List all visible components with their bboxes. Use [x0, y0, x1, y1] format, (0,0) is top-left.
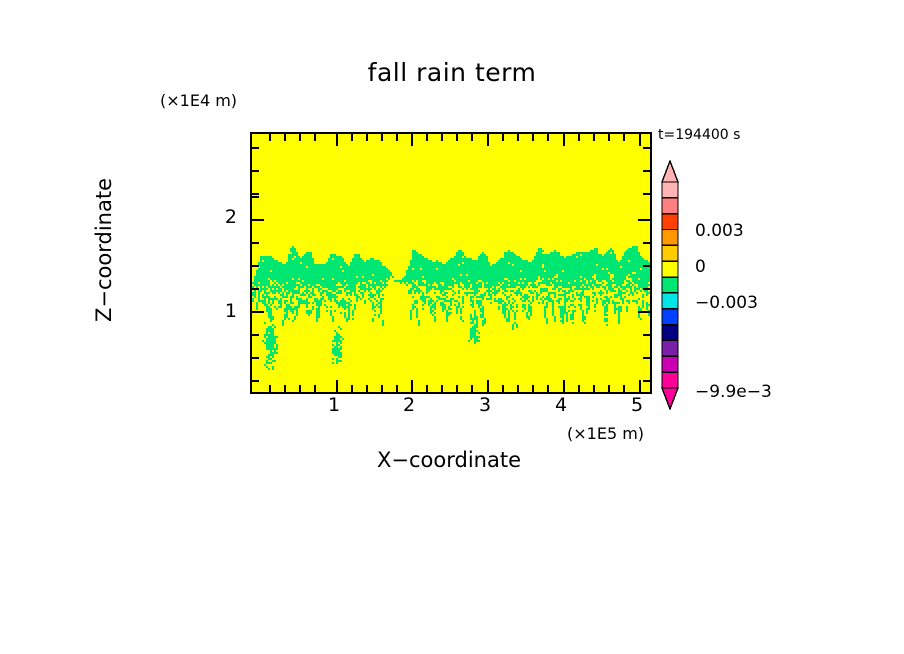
xtick-top-major: [563, 134, 565, 146]
ytick-minor: [252, 147, 259, 149]
xtick-minor: [456, 385, 458, 392]
xtick-top-minor: [608, 134, 610, 141]
ytick-right-minor: [643, 357, 650, 359]
xtick-minor: [608, 385, 610, 392]
xtick-top-minor: [351, 134, 353, 141]
xtick-top-minor: [456, 134, 458, 141]
colorbar-label-3: −9.9e−3: [695, 382, 772, 402]
ytick-right-minor: [643, 334, 650, 336]
ytick-minor: [252, 288, 259, 290]
x-axis-label: X−coordinate: [250, 448, 648, 472]
xtick-top-minor: [396, 134, 398, 141]
xtick-label-3: 3: [465, 394, 505, 416]
ytick-right-major: [638, 219, 650, 221]
xtick-minor: [517, 385, 519, 392]
xtick-minor: [471, 385, 473, 392]
xtick-top-minor: [366, 134, 368, 141]
xtick-top-minor: [284, 134, 286, 141]
xtick-top-minor: [381, 134, 383, 141]
colorbar-gradient: [661, 160, 679, 410]
xtick-top-minor: [578, 134, 580, 141]
xtick-top-minor: [314, 134, 316, 141]
xtick-minor: [284, 385, 286, 392]
figure-canvas: fall rain term (×1E4 m) t=194400 s Z−coo…: [0, 0, 904, 654]
xtick-minor: [351, 385, 353, 392]
xtick-major: [336, 380, 338, 392]
x-axis-units: (×1E5 m): [567, 424, 644, 443]
ytick-label-1: 1: [197, 300, 237, 322]
xtick-minor: [366, 385, 368, 392]
xtick-label-1: 1: [314, 394, 354, 416]
xtick-top-minor: [471, 134, 473, 141]
xtick-top-minor: [269, 134, 271, 141]
xtick-top-major: [411, 134, 413, 146]
xtick-minor: [381, 385, 383, 392]
ytick-right-minor: [643, 288, 650, 290]
xtick-top-minor: [547, 134, 549, 141]
ytick-minor: [252, 357, 259, 359]
heatmap-data: [252, 134, 650, 392]
ytick-major: [252, 311, 264, 313]
xtick-top-minor: [517, 134, 519, 141]
ytick-minor: [252, 380, 259, 382]
y-axis-units: (×1E4 m): [160, 91, 237, 110]
ytick-major: [252, 219, 264, 221]
xtick-major: [639, 380, 641, 392]
xtick-minor: [578, 385, 580, 392]
xtick-minor: [502, 385, 504, 392]
ytick-right-minor: [643, 147, 650, 149]
timestamp-label: t=194400 s: [658, 127, 740, 143]
xtick-top-minor: [532, 134, 534, 141]
xtick-top-minor: [623, 134, 625, 141]
xtick-minor: [299, 385, 301, 392]
xtick-minor: [269, 385, 271, 392]
plot-area: [250, 132, 652, 394]
ytick-minor: [252, 265, 259, 267]
xtick-top-minor: [502, 134, 504, 141]
xtick-top-minor: [441, 134, 443, 141]
ytick-right-minor: [643, 242, 650, 244]
ytick-right-minor: [643, 265, 650, 267]
ytick-minor: [252, 193, 259, 195]
xtick-top-minor: [593, 134, 595, 141]
ytick-right-major: [638, 311, 650, 313]
ytick-right-minor: [643, 193, 650, 195]
xtick-minor: [532, 385, 534, 392]
ytick-minor: [252, 242, 259, 244]
xtick-top-major: [639, 134, 641, 146]
xtick-minor: [593, 385, 595, 392]
xtick-top-major: [336, 134, 338, 146]
colorbar: [661, 160, 679, 410]
ytick-label-2: 2: [197, 206, 237, 228]
page-title: fall rain term: [0, 58, 904, 87]
xtick-minor: [623, 385, 625, 392]
xtick-major: [487, 380, 489, 392]
ytick-right-minor: [643, 170, 650, 172]
colorbar-label-2: −0.003: [695, 293, 758, 313]
ytick-minor: [252, 334, 259, 336]
xtick-minor: [426, 385, 428, 392]
y-axis-label: Z−coordinate: [92, 140, 116, 360]
xtick-label-4: 4: [541, 394, 581, 416]
ytick-minor: [252, 196, 259, 198]
xtick-top-major: [487, 134, 489, 146]
xtick-major: [411, 380, 413, 392]
heatmap-canvas: [252, 134, 650, 392]
xtick-minor: [396, 385, 398, 392]
xtick-label-2: 2: [389, 394, 429, 416]
colorbar-label-1: 0: [695, 257, 706, 277]
xtick-minor: [441, 385, 443, 392]
xtick-top-minor: [299, 134, 301, 141]
xtick-minor: [314, 385, 316, 392]
xtick-label-5: 5: [617, 394, 657, 416]
xtick-major: [563, 380, 565, 392]
ytick-minor: [252, 170, 259, 172]
colorbar-label-0: 0.003: [695, 221, 744, 241]
xtick-minor: [547, 385, 549, 392]
ytick-right-minor: [643, 380, 650, 382]
xtick-top-minor: [426, 134, 428, 141]
